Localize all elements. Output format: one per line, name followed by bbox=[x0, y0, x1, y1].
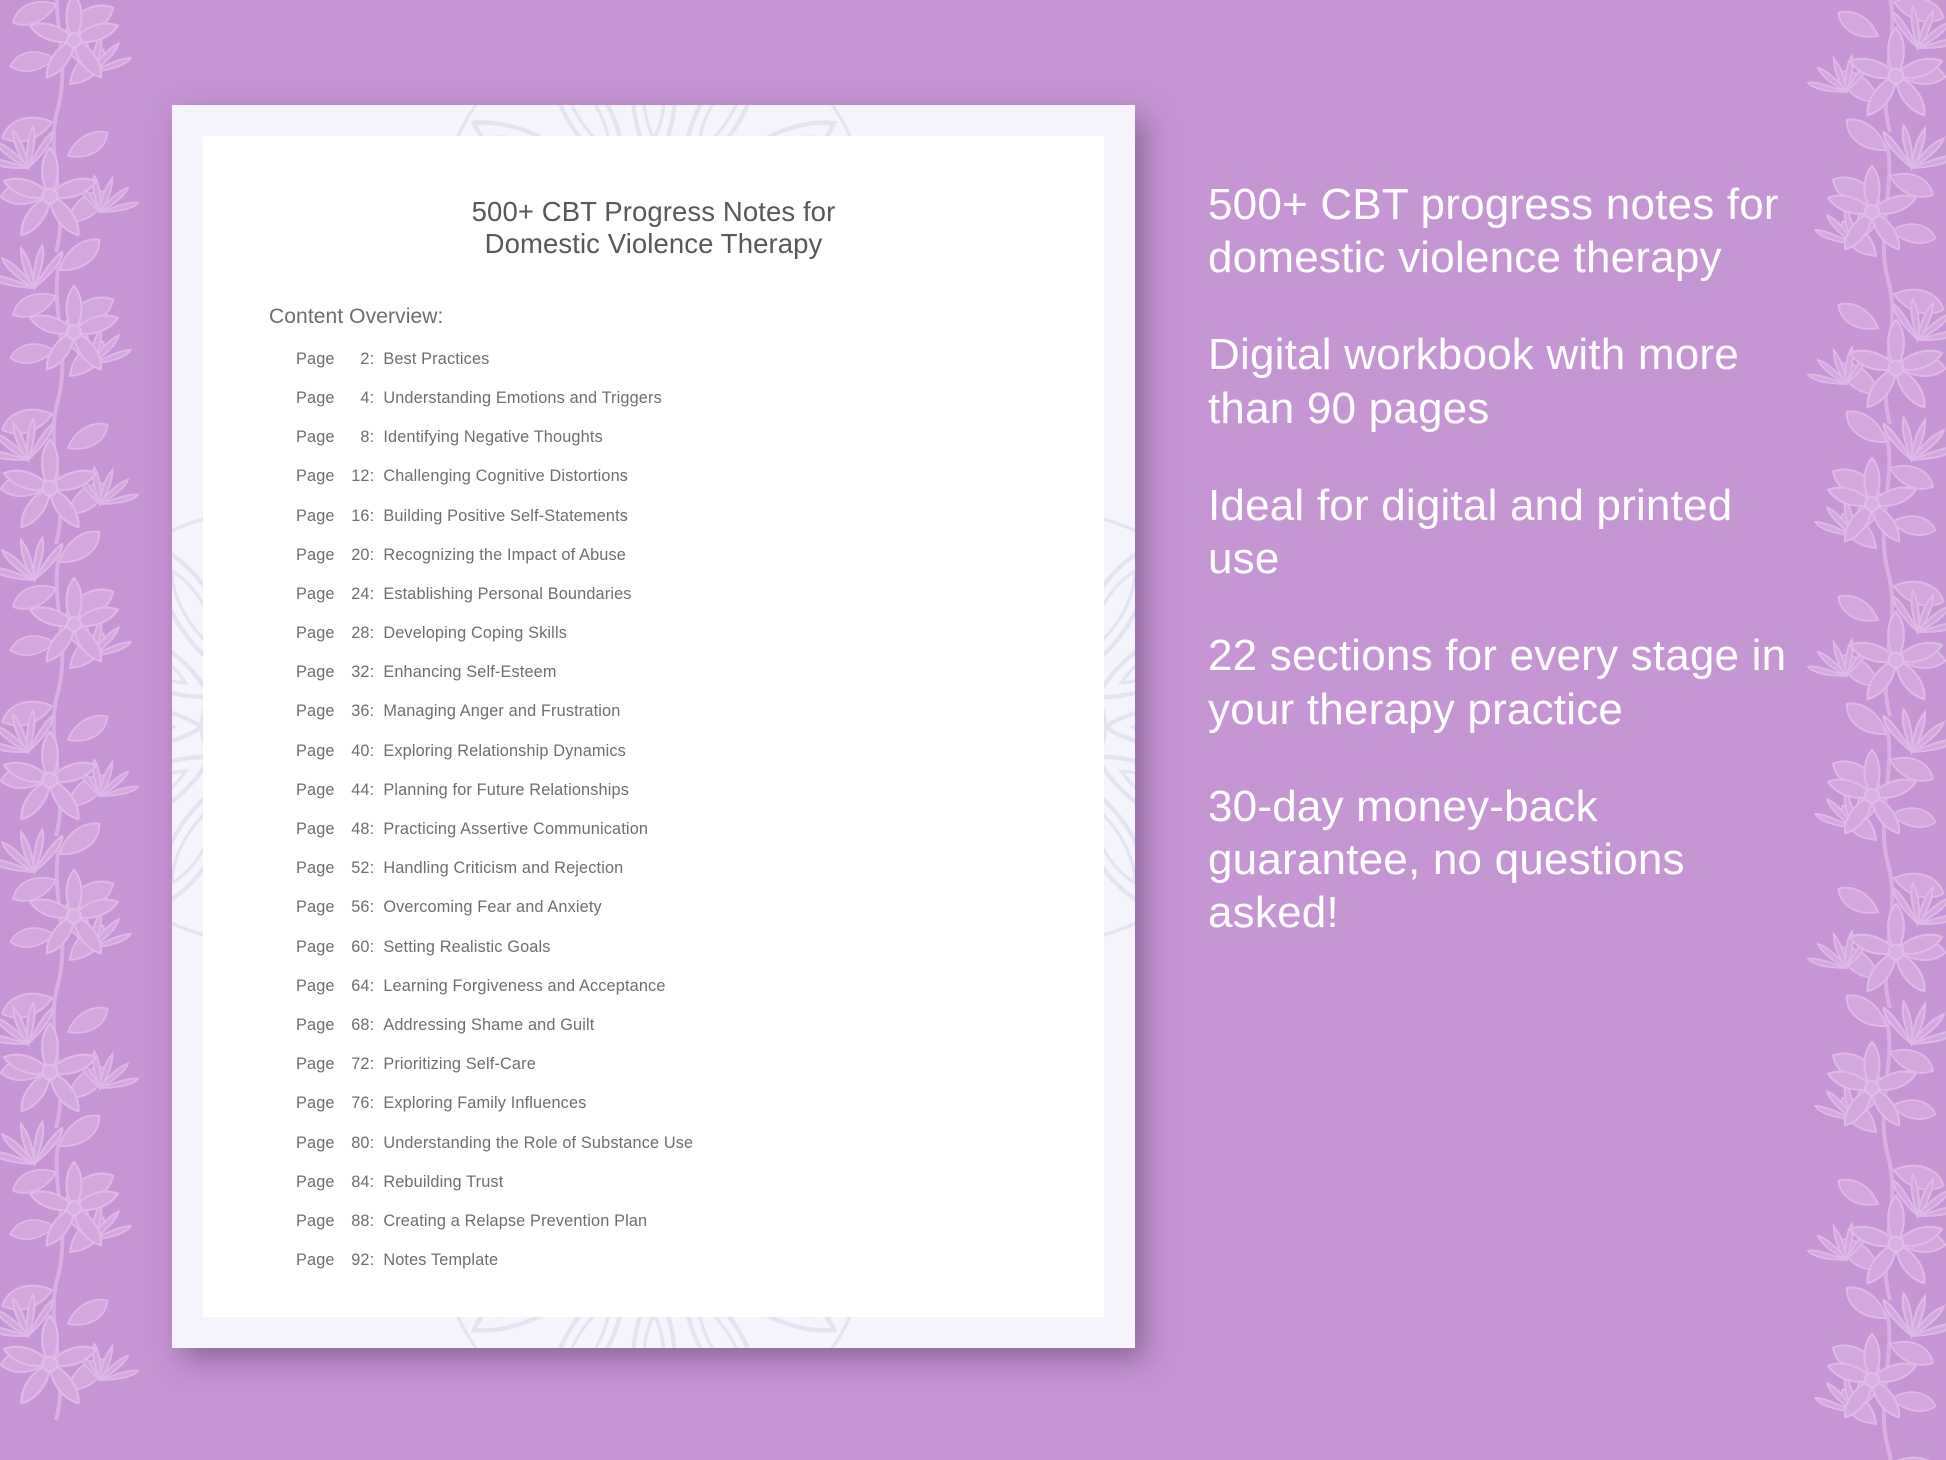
toc-entry-title: Practicing Assertive Communication bbox=[383, 820, 648, 839]
toc-page-number: 72 bbox=[340, 1055, 370, 1074]
toc-page-number: 80 bbox=[340, 1134, 370, 1153]
toc-page-word: Page bbox=[296, 624, 335, 643]
toc-page-word: Page bbox=[296, 1134, 335, 1153]
toc-page-word: Page bbox=[296, 702, 335, 721]
toc-row: Page 56 : Overcoming Fear and Anxiety bbox=[296, 898, 1056, 937]
toc-colon: : bbox=[370, 507, 375, 526]
toc-row: Page 72 : Prioritizing Self-Care bbox=[296, 1055, 1056, 1094]
document-page: 500+ CBT Progress Notes for Domestic Vio… bbox=[203, 136, 1104, 1317]
toc-page-word: Page bbox=[296, 1016, 335, 1035]
marketing-line: 30-day money-back guarantee, no question… bbox=[1208, 780, 1798, 940]
toc-entry-title: Overcoming Fear and Anxiety bbox=[383, 898, 602, 917]
toc-row: Page 80 : Understanding the Role of Subs… bbox=[296, 1134, 1056, 1173]
toc-page-number: 60 bbox=[340, 938, 370, 957]
toc-colon: : bbox=[370, 1134, 375, 1153]
toc-page-number: 84 bbox=[340, 1173, 370, 1192]
toc-row: Page 32 : Enhancing Self-Esteem bbox=[296, 663, 1056, 702]
toc-colon: : bbox=[370, 1173, 375, 1192]
toc-page-word: Page bbox=[296, 742, 335, 761]
toc-colon: : bbox=[370, 467, 375, 486]
toc-page-number: 56 bbox=[340, 898, 370, 917]
toc-page-word: Page bbox=[296, 1251, 335, 1270]
toc-row: Page 24 : Establishing Personal Boundari… bbox=[296, 585, 1056, 624]
toc-entry-title: Enhancing Self-Esteem bbox=[383, 663, 556, 682]
toc-entry-title: Prioritizing Self-Care bbox=[383, 1055, 536, 1074]
toc-entry-title: Exploring Family Influences bbox=[383, 1094, 586, 1113]
toc-page-word: Page bbox=[296, 467, 335, 486]
toc-row: Page 88 : Creating a Relapse Prevention … bbox=[296, 1212, 1056, 1251]
toc-entry-title: Understanding the Role of Substance Use bbox=[383, 1134, 693, 1153]
toc-colon: : bbox=[370, 702, 375, 721]
toc-entry-title: Planning for Future Relationships bbox=[383, 781, 629, 800]
toc-page-number: 32 bbox=[340, 663, 370, 682]
toc-page-word: Page bbox=[296, 781, 335, 800]
toc-entry-title: Learning Forgiveness and Acceptance bbox=[383, 977, 665, 996]
toc-colon: : bbox=[370, 820, 375, 839]
marketing-line: 22 sections for every stage in your ther… bbox=[1208, 629, 1798, 735]
toc-page-word: Page bbox=[296, 898, 335, 917]
toc-row: Page 64 : Learning Forgiveness and Accep… bbox=[296, 977, 1056, 1016]
toc-entry-title: Best Practices bbox=[383, 350, 489, 369]
toc-row: Page 36 : Managing Anger and Frustration bbox=[296, 702, 1056, 741]
toc-row: Page 52 : Handling Criticism and Rejecti… bbox=[296, 859, 1056, 898]
toc-row: Page 84 : Rebuilding Trust bbox=[296, 1173, 1056, 1212]
toc-page-number: 8 bbox=[340, 428, 370, 447]
toc-colon: : bbox=[370, 781, 375, 800]
toc-row: Page 28 : Developing Coping Skills bbox=[296, 624, 1056, 663]
content-overview-label: Content Overview: bbox=[269, 305, 1056, 329]
toc-row: Page 4 : Understanding Emotions and Trig… bbox=[296, 389, 1056, 428]
toc-page-word: Page bbox=[296, 1212, 335, 1231]
toc-colon: : bbox=[370, 898, 375, 917]
toc-page-word: Page bbox=[296, 663, 335, 682]
floral-border-left bbox=[0, 0, 180, 1460]
toc-colon: : bbox=[370, 1016, 375, 1035]
toc-entry-title: Understanding Emotions and Triggers bbox=[383, 389, 662, 408]
toc-page-number: 20 bbox=[340, 546, 370, 565]
toc-page-number: 76 bbox=[340, 1094, 370, 1113]
toc-colon: : bbox=[370, 742, 375, 761]
toc-page-number: 48 bbox=[340, 820, 370, 839]
toc-page-number: 64 bbox=[340, 977, 370, 996]
toc-row: Page 40 : Exploring Relationship Dynamic… bbox=[296, 742, 1056, 781]
toc-colon: : bbox=[370, 1055, 375, 1074]
toc-page-word: Page bbox=[296, 428, 335, 447]
toc-page-number: 12 bbox=[340, 467, 370, 486]
toc-row: Page 20 : Recognizing the Impact of Abus… bbox=[296, 546, 1056, 585]
toc-page-number: 44 bbox=[340, 781, 370, 800]
toc-colon: : bbox=[370, 546, 375, 565]
toc-row: Page 76 : Exploring Family Influences bbox=[296, 1094, 1056, 1133]
toc-colon: : bbox=[370, 585, 375, 604]
toc-entry-title: Identifying Negative Thoughts bbox=[383, 428, 602, 447]
toc-page-word: Page bbox=[296, 820, 335, 839]
toc-page-word: Page bbox=[296, 1094, 335, 1113]
marketing-line: Ideal for digital and printed use bbox=[1208, 479, 1798, 585]
toc-row: Page 60 : Setting Realistic Goals bbox=[296, 938, 1056, 977]
marketing-line: 500+ CBT progress notes for domestic vio… bbox=[1208, 178, 1798, 284]
toc-page-number: 92 bbox=[340, 1251, 370, 1270]
toc-page-word: Page bbox=[296, 1055, 335, 1074]
toc-entry-title: Rebuilding Trust bbox=[383, 1173, 503, 1192]
toc-entry-title: Notes Template bbox=[383, 1251, 498, 1270]
toc-row: Page 2 : Best Practices bbox=[296, 350, 1056, 389]
toc-colon: : bbox=[370, 1094, 375, 1113]
toc-page-word: Page bbox=[296, 389, 335, 408]
toc-page-word: Page bbox=[296, 507, 335, 526]
toc-page-word: Page bbox=[296, 977, 335, 996]
toc-page-number: 40 bbox=[340, 742, 370, 761]
toc-colon: : bbox=[370, 1251, 375, 1270]
toc-page-word: Page bbox=[296, 859, 335, 878]
marketing-line: Digital workbook with more than 90 pages bbox=[1208, 328, 1798, 434]
toc-colon: : bbox=[370, 350, 375, 369]
table-of-contents: Page 2 : Best Practices Page 4 : Underst… bbox=[296, 350, 1056, 1291]
toc-page-number: 2 bbox=[340, 350, 370, 369]
toc-page-number: 4 bbox=[340, 389, 370, 408]
toc-colon: : bbox=[370, 428, 375, 447]
toc-entry-title: Creating a Relapse Prevention Plan bbox=[383, 1212, 647, 1231]
toc-entry-title: Recognizing the Impact of Abuse bbox=[383, 546, 626, 565]
toc-page-number: 88 bbox=[340, 1212, 370, 1231]
toc-row: Page 12 : Challenging Cognitive Distorti… bbox=[296, 467, 1056, 506]
toc-entry-title: Addressing Shame and Guilt bbox=[383, 1016, 594, 1035]
toc-colon: : bbox=[370, 663, 375, 682]
document-preview-card[interactable]: 500+ CBT Progress Notes for Domestic Vio… bbox=[172, 105, 1135, 1348]
toc-entry-title: Setting Realistic Goals bbox=[383, 938, 550, 957]
toc-row: Page 16 : Building Positive Self-Stateme… bbox=[296, 507, 1056, 546]
toc-row: Page 48 : Practicing Assertive Communica… bbox=[296, 820, 1056, 859]
toc-row: Page 68 : Addressing Shame and Guilt bbox=[296, 1016, 1056, 1055]
toc-entry-title: Developing Coping Skills bbox=[383, 624, 567, 643]
toc-row: Page 92 : Notes Template bbox=[296, 1251, 1056, 1290]
toc-page-number: 68 bbox=[340, 1016, 370, 1035]
toc-page-word: Page bbox=[296, 938, 335, 957]
toc-colon: : bbox=[370, 938, 375, 957]
toc-page-word: Page bbox=[296, 1173, 335, 1192]
toc-entry-title: Exploring Relationship Dynamics bbox=[383, 742, 626, 761]
toc-page-number: 36 bbox=[340, 702, 370, 721]
toc-colon: : bbox=[370, 1212, 375, 1231]
toc-page-number: 16 bbox=[340, 507, 370, 526]
toc-page-number: 52 bbox=[340, 859, 370, 878]
toc-page-word: Page bbox=[296, 350, 335, 369]
toc-colon: : bbox=[370, 624, 375, 643]
page-title: 500+ CBT Progress Notes for Domestic Vio… bbox=[251, 196, 1056, 260]
toc-row: Page 44 : Planning for Future Relationsh… bbox=[296, 781, 1056, 820]
toc-page-number: 28 bbox=[340, 624, 370, 643]
toc-page-number: 24 bbox=[340, 585, 370, 604]
toc-entry-title: Handling Criticism and Rejection bbox=[383, 859, 623, 878]
toc-entry-title: Building Positive Self-Statements bbox=[383, 507, 628, 526]
marketing-copy: 500+ CBT progress notes for domestic vio… bbox=[1208, 178, 1798, 940]
toc-entry-title: Establishing Personal Boundaries bbox=[383, 585, 631, 604]
toc-entry-title: Challenging Cognitive Distortions bbox=[383, 467, 628, 486]
toc-page-word: Page bbox=[296, 585, 335, 604]
toc-entry-title: Managing Anger and Frustration bbox=[383, 702, 620, 721]
toc-row: Page 8 : Identifying Negative Thoughts bbox=[296, 428, 1056, 467]
toc-colon: : bbox=[370, 977, 375, 996]
toc-colon: : bbox=[370, 859, 375, 878]
toc-page-word: Page bbox=[296, 546, 335, 565]
toc-colon: : bbox=[370, 389, 375, 408]
